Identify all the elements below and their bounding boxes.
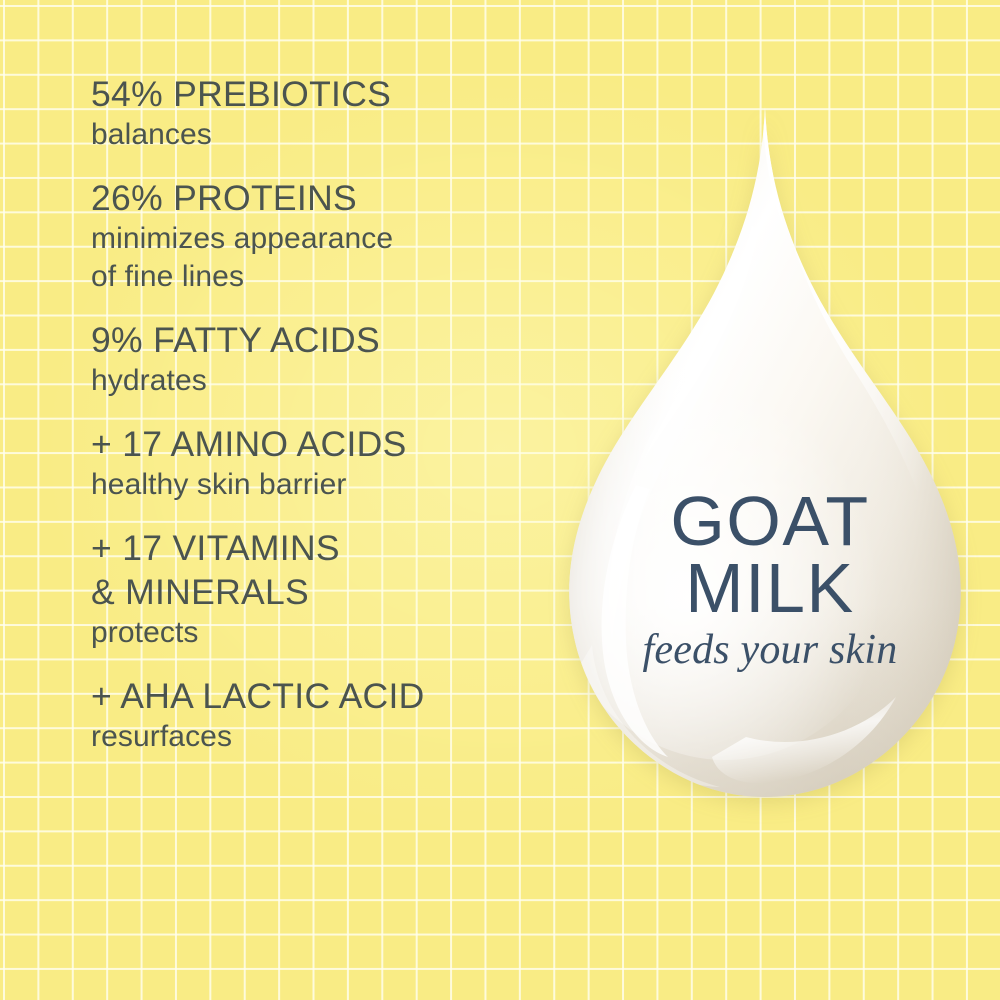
benefit-subtitle: minimizes appearance of fine lines <box>91 220 561 296</box>
benefit-item-proteins: 26% PROTEINS minimizes appearance of fin… <box>91 176 561 296</box>
benefit-subtitle: hydrates <box>91 362 561 400</box>
benefit-subtitle: protects <box>91 614 561 652</box>
benefit-title: 9% FATTY ACIDS <box>91 318 561 362</box>
benefit-item-prebiotics: 54% PREBIOTICS balances <box>91 72 561 154</box>
droplet-belly-light <box>540 330 910 760</box>
benefit-subtitle: healthy skin barrier <box>91 466 561 504</box>
benefits-list: 54% PREBIOTICS balances 26% PROTEINS min… <box>91 72 561 756</box>
benefit-title: + 17 AMINO ACIDS <box>91 422 561 466</box>
benefit-item-vitamins-minerals: + 17 VITAMINS & MINERALS protects <box>91 526 561 652</box>
benefit-item-aha-lactic-acid: + AHA LACTIC ACID resurfaces <box>91 674 561 756</box>
benefit-item-amino-acids: + 17 AMINO ACIDS healthy skin barrier <box>91 422 561 504</box>
benefit-subtitle: balances <box>91 116 561 154</box>
milk-droplet-icon <box>540 85 990 825</box>
benefit-title: 54% PREBIOTICS <box>91 72 561 116</box>
goat-milk-benefits-poster: 54% PREBIOTICS balances 26% PROTEINS min… <box>0 0 1000 1000</box>
benefit-title: + 17 VITAMINS & MINERALS <box>91 526 561 614</box>
benefit-subtitle: resurfaces <box>91 718 561 756</box>
benefit-item-fatty-acids: 9% FATTY ACIDS hydrates <box>91 318 561 400</box>
benefit-title: 26% PROTEINS <box>91 176 561 220</box>
benefit-title: + AHA LACTIC ACID <box>91 674 561 718</box>
milk-droplet-graphic <box>540 85 990 825</box>
